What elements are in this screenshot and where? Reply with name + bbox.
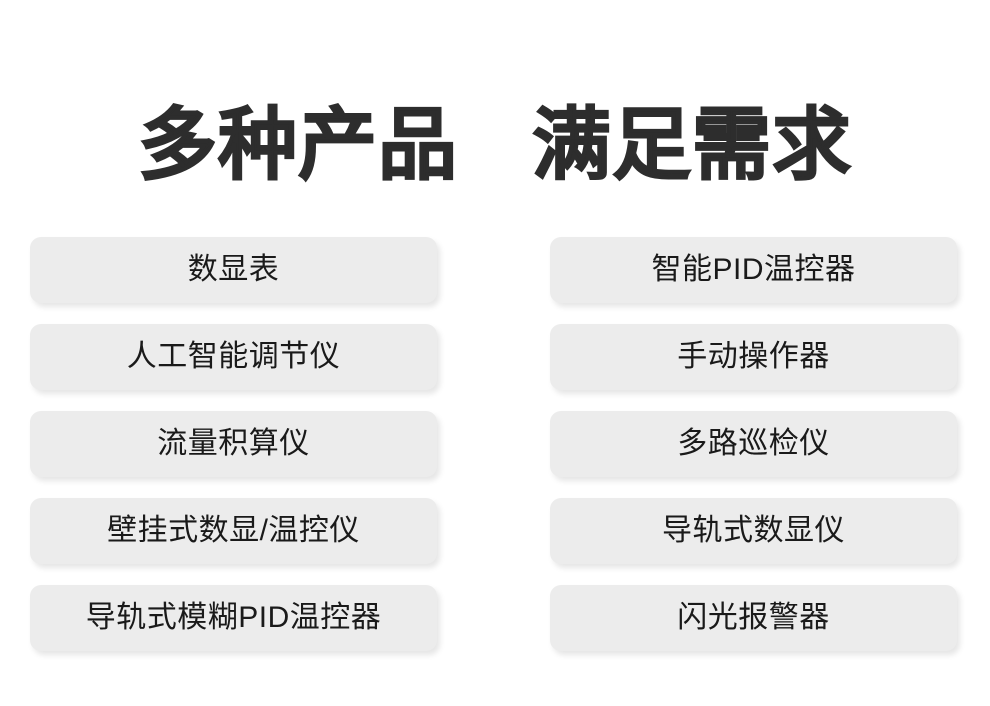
product-pill[interactable]: 多路巡检仪 (550, 411, 957, 477)
product-pill[interactable]: 闪光报警器 (550, 585, 957, 651)
product-pill[interactable]: 手动操作器 (550, 324, 957, 390)
page-title-segment-1: 多种产品 (138, 95, 458, 195)
product-pill-label: 智能PID温控器 (651, 252, 855, 288)
product-pill-label: 导轨式模糊PID温控器 (86, 600, 382, 636)
product-pill-label: 多路巡检仪 (677, 426, 830, 462)
product-pill[interactable]: 人工智能调节仪 (30, 324, 437, 390)
product-pill-label: 手动操作器 (677, 339, 830, 375)
product-pill-label: 数显表 (188, 252, 280, 288)
product-pill-label: 流量积算仪 (157, 426, 310, 462)
product-pill[interactable]: 智能PID温控器 (550, 237, 957, 303)
product-pill[interactable]: 壁挂式数显/温控仪 (30, 498, 437, 564)
product-pill[interactable]: 导轨式模糊PID温控器 (30, 585, 437, 651)
product-pill-label: 闪光报警器 (677, 600, 830, 636)
product-pill[interactable]: 数显表 (30, 237, 437, 303)
product-category-grid: 数显表 人工智能调节仪 流量积算仪 壁挂式数显/温控仪 导轨式模糊PID温控器 … (30, 237, 957, 650)
product-pill-label: 壁挂式数显/温控仪 (107, 513, 360, 549)
product-column-right: 智能PID温控器 手动操作器 多路巡检仪 导轨式数显仪 闪光报警器 (550, 237, 957, 651)
product-category-banner: 多种产品满足需求 数显表 人工智能调节仪 流量积算仪 壁挂式数显/温控仪 导轨式… (0, 0, 990, 706)
product-pill-label: 导轨式数显仪 (662, 513, 845, 549)
product-pill[interactable]: 导轨式数显仪 (550, 498, 957, 564)
product-pill[interactable]: 流量积算仪 (30, 411, 437, 477)
product-pill-label: 人工智能调节仪 (127, 339, 341, 375)
page-title: 多种产品满足需求 (0, 95, 990, 195)
page-title-segment-2: 满足需求 (532, 95, 852, 195)
product-column-left: 数显表 人工智能调节仪 流量积算仪 壁挂式数显/温控仪 导轨式模糊PID温控器 (30, 237, 437, 651)
